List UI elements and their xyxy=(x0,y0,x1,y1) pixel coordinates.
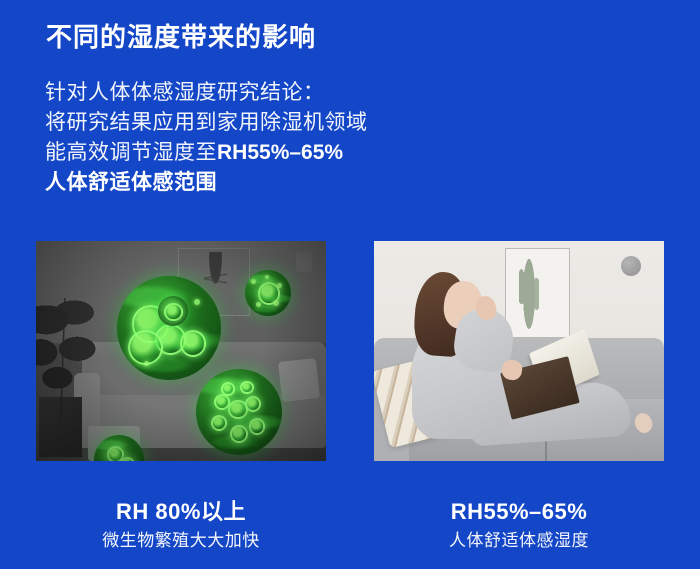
caption-right-sub: 人体舒适体感湿度 xyxy=(374,528,664,554)
caption-comfort-humidity: RH55%–65% 人体舒适体感湿度 xyxy=(374,498,664,554)
photo-high-humidity xyxy=(36,241,326,461)
body-line-3-highlight: RH55%–65% xyxy=(217,141,343,164)
cactus-art-icon xyxy=(519,256,539,329)
body-line-4: 人体舒适体感范围 xyxy=(45,168,475,198)
caption-left-main: RH 80%以上 xyxy=(36,498,326,526)
body-paragraph: 针对人体体感湿度研究结论： 将研究结果应用到家用除湿机领域 能高效调节湿度至RH… xyxy=(45,78,475,198)
humidity-impact-poster: 不同的湿度带来的影响 针对人体体感湿度研究结论： 将研究结果应用到家用除湿机领域… xyxy=(0,0,700,569)
caption-left-sub: 微生物繁殖大大加快 xyxy=(36,528,326,554)
body-line-3-prefix: 能高效调节湿度至 xyxy=(45,141,217,164)
body-line-3: 能高效调节湿度至RH55%–65% xyxy=(45,138,475,168)
page-title: 不同的湿度带来的影响 xyxy=(46,20,316,54)
body-line-1: 针对人体体感湿度研究结论： xyxy=(45,78,475,108)
caption-high-humidity: RH 80%以上 微生物繁殖大大加快 xyxy=(36,498,326,554)
caption-right-main: RH55%–65% xyxy=(374,498,664,526)
dark-room-vignette xyxy=(36,241,326,461)
photo-comfort-humidity xyxy=(374,241,664,461)
body-line-2: 将研究结果应用到家用除湿机领域 xyxy=(45,108,475,138)
